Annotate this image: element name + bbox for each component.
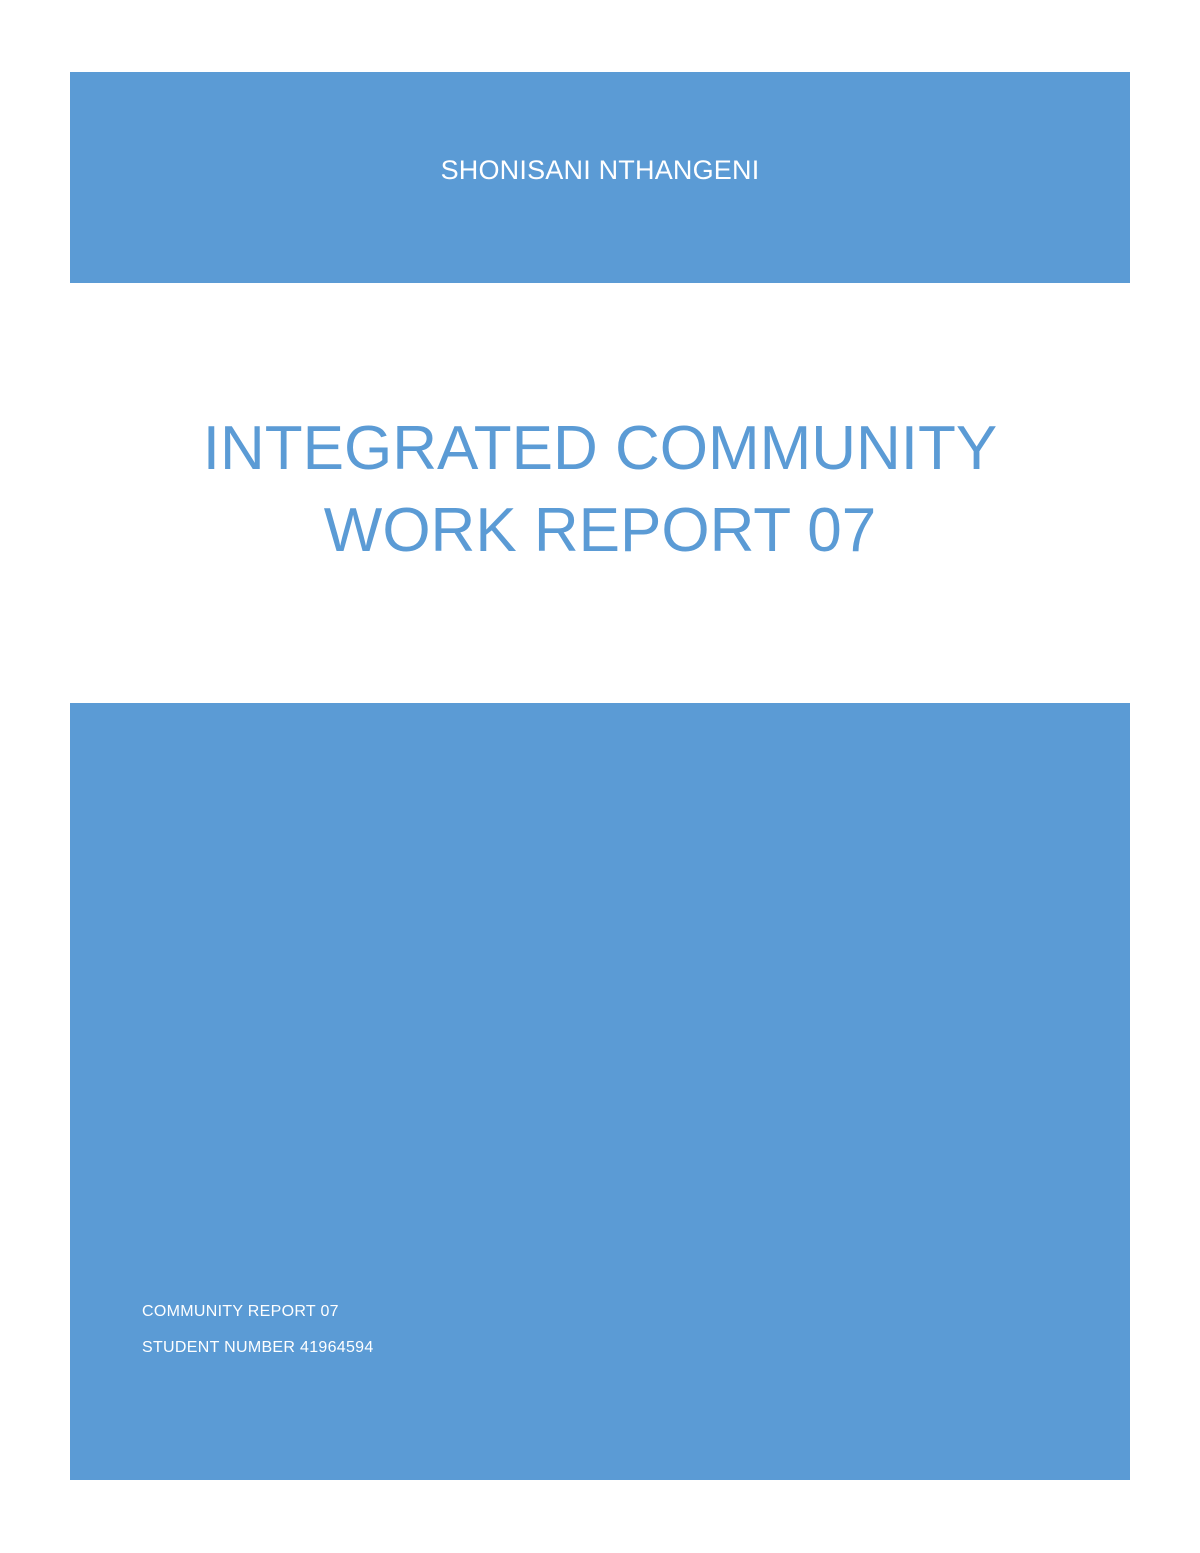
page-title-line-1: INTEGRATED COMMUNITY	[70, 408, 1130, 490]
author-name: SHONISANI NTHANGENI	[70, 157, 1130, 184]
author-banner: SHONISANI NTHANGENI	[70, 72, 1130, 283]
page-title-line-2: WORK REPORT 07	[70, 490, 1130, 572]
bottom-banner: COMMUNITY REPORT 07 STUDENT NUMBER 41964…	[70, 703, 1130, 1480]
page-title: INTEGRATED COMMUNITY WORK REPORT 07	[70, 408, 1130, 572]
report-label: COMMUNITY REPORT 07	[142, 1294, 374, 1330]
student-number-label: STUDENT NUMBER 41964594	[142, 1330, 374, 1366]
cover-page: SHONISANI NTHANGENI INTEGRATED COMMUNITY…	[0, 0, 1200, 1553]
footer-text-block: COMMUNITY REPORT 07 STUDENT NUMBER 41964…	[142, 1294, 374, 1366]
